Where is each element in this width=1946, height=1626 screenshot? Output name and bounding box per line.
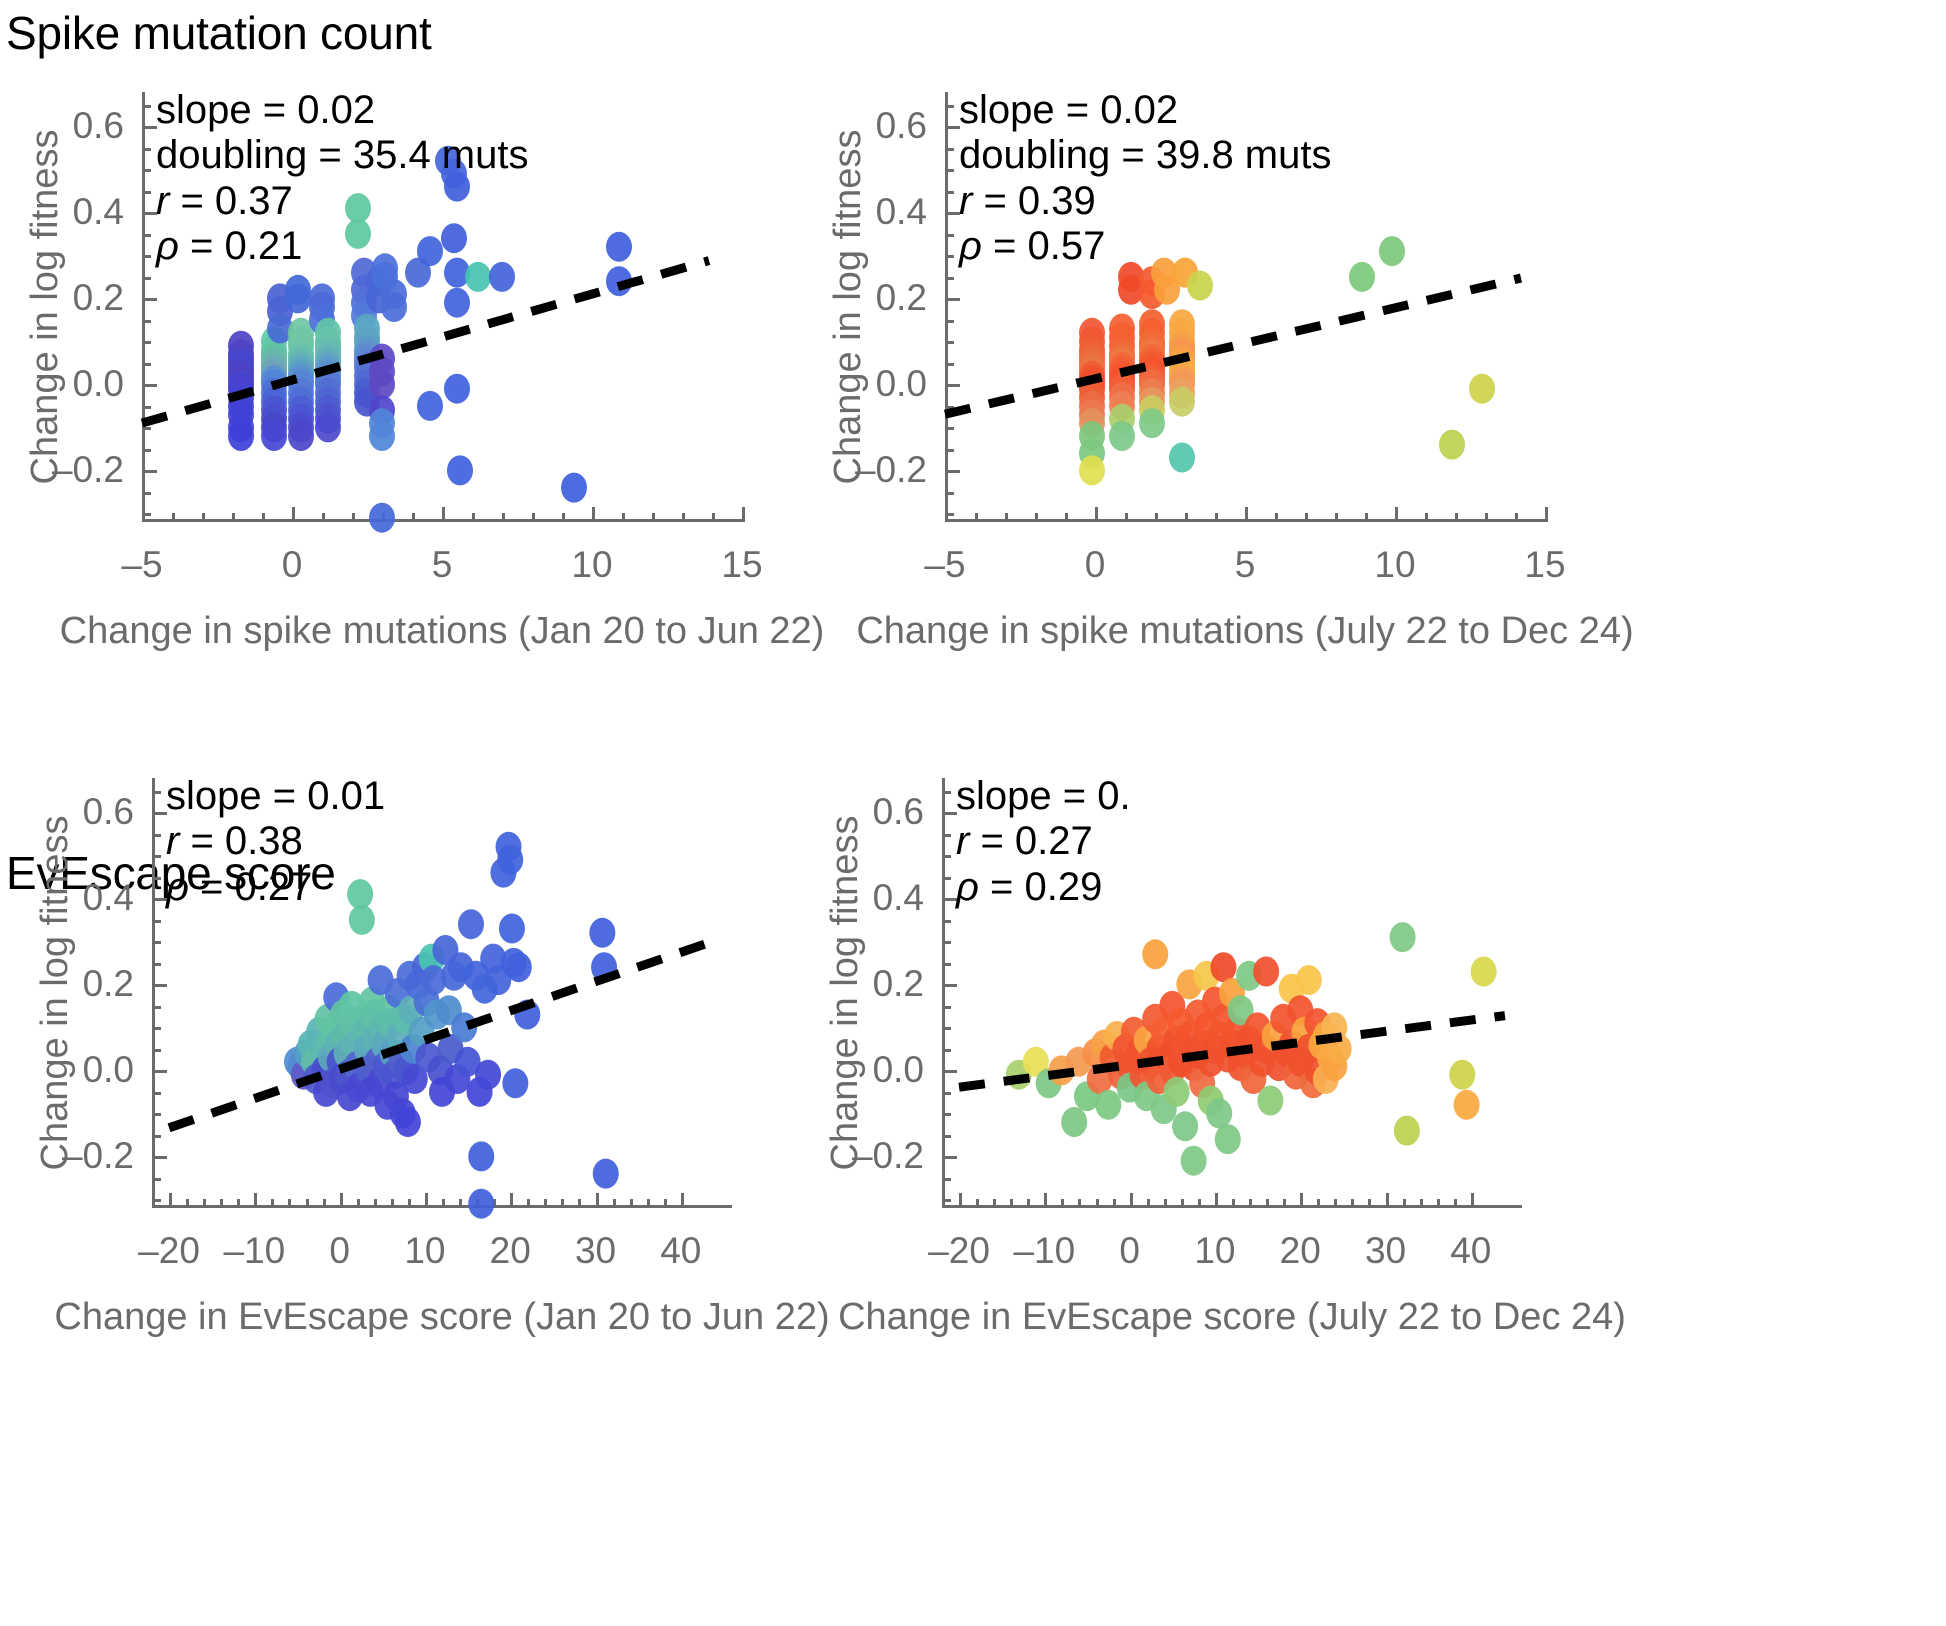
stats-value: = 0.21 [179,224,302,268]
y-tick-label: 0.2 [876,277,927,319]
section-title-spike-mutation-count: Spike mutation count [6,6,432,60]
x-tick-label: 20 [490,1230,531,1272]
data-point [369,421,395,451]
stats-symbol: r [959,179,972,223]
stats-line: doubling = 35.4 muts [156,133,528,178]
y-tick-label: 0.0 [873,1049,924,1091]
x-tick-label: 10 [404,1230,445,1272]
stats-symbol: ρ [959,224,982,268]
x-tick-label: 10 [1374,544,1415,586]
x-tick-label: 20 [1280,1230,1321,1272]
stats-value: doubling = 35.4 muts [156,133,528,177]
stats-line: ρ = 0.29 [956,865,1131,910]
data-point [468,1189,494,1219]
y-tick-label: 0.0 [876,363,927,405]
data-point [1349,262,1375,292]
stats-annotation: slope = 0.02doubling = 39.8 mutsr = 0.39… [959,88,1331,270]
x-tick-label: –5 [924,544,965,586]
data-point [381,292,407,322]
data-point [1257,1086,1283,1116]
data-point [1187,271,1213,301]
y-tick-label: 0.2 [873,963,924,1005]
y-tick-label: 0.6 [73,105,124,147]
data-point [369,369,395,399]
stats-line: r = 0.38 [166,819,385,864]
data-point [468,1141,494,1171]
x-tick-label: 5 [1235,544,1256,586]
data-point [395,1107,421,1137]
data-point [1164,1077,1190,1107]
stats-symbol: r [956,819,969,863]
y-axis-title: Change in log fitness [24,130,67,485]
data-point [444,288,470,318]
data-point [1210,952,1236,982]
x-tick-label: 30 [575,1230,616,1272]
data-point [315,412,341,442]
stats-value: = 0.29 [979,865,1102,909]
stats-line: ρ = 0.21 [156,224,528,269]
stats-value: slope = 0. [956,774,1131,818]
data-point [1206,1098,1232,1128]
data-point [475,1060,501,1090]
stats-value: doubling = 39.8 muts [959,133,1331,177]
y-tick-label: 0.6 [876,105,927,147]
x-tick-major [1545,507,1548,522]
data-point [1169,443,1195,473]
data-point [1253,957,1279,987]
stats-value: slope = 0.02 [959,88,1178,132]
x-tick-label: 15 [721,544,762,586]
stats-line: r = 0.27 [956,819,1131,864]
stats-symbol: ρ [956,865,979,909]
x-axis-title: Change in spike mutations (Jan 20 to Jun… [60,610,825,653]
stats-value: = 0.27 [189,865,312,909]
y-tick-label: 0.4 [83,877,134,919]
y-axis-title: Change in log fitness [824,816,867,1171]
stats-line: slope = 0.02 [156,88,528,133]
stats-line: slope = 0.02 [959,88,1331,133]
data-point [1439,430,1465,460]
data-point [589,918,615,948]
stats-symbol: r [156,179,169,223]
y-tick-label: 0.6 [83,791,134,833]
data-point [458,909,484,939]
x-tick-major [742,507,745,522]
scatter-points [1079,236,1495,485]
x-tick-label: 0 [1085,544,1106,586]
data-point [1394,1116,1420,1146]
stats-line: ρ = 0.27 [166,865,385,910]
data-point [1469,374,1495,404]
data-point [561,473,587,503]
stats-value: slope = 0.01 [166,774,385,818]
x-tick-label: –20 [138,1230,200,1272]
data-point [502,1068,528,1098]
data-point [1139,408,1165,438]
data-point [606,232,632,262]
data-point [497,845,523,875]
x-tick-label: 30 [1365,1230,1406,1272]
stats-line: slope = 0.01 [166,774,385,819]
data-point [1181,1146,1207,1176]
y-tick-label: 0.0 [73,363,124,405]
data-point [261,421,287,451]
data-point [1109,421,1135,451]
stats-symbol: ρ [166,865,189,909]
panel-evescape-early: –0.20.00.20.40.6–20–10010203040slope = 0… [152,778,732,1208]
x-tick-label: 0 [329,1230,350,1272]
data-point [1079,455,1105,485]
x-tick-label: 10 [571,544,612,586]
x-axis-title: Change in EvEscape score (July 22 to Dec… [838,1296,1626,1339]
stats-value: = 0.27 [969,819,1092,863]
stats-annotation: slope = 0.02doubling = 35.4 mutsr = 0.37… [156,88,528,270]
x-tick-label: 40 [1450,1230,1491,1272]
data-point [499,914,525,944]
data-point [1095,1090,1121,1120]
data-point [506,952,532,982]
stats-line: r = 0.39 [959,179,1331,224]
y-tick-label: 0.2 [83,963,134,1005]
y-tick-label: 0.6 [873,791,924,833]
data-point [1169,387,1195,417]
stats-value: slope = 0.02 [156,88,375,132]
data-point [1215,1124,1241,1154]
data-point [1449,1060,1475,1090]
x-axis-title: Change in spike mutations (July 22 to De… [856,610,1633,653]
stats-value: = 0.38 [179,819,302,863]
stats-line: ρ = 0.57 [959,224,1331,269]
stats-line: doubling = 39.8 muts [959,133,1331,178]
data-point [285,283,311,313]
y-tick-label: 0.2 [73,277,124,319]
stats-line: r = 0.37 [156,179,528,224]
panel-spike-early: –0.20.00.20.40.6–5051015slope = 0.02doub… [142,92,742,522]
stats-symbol: r [166,819,179,863]
figure-root: Spike mutation count EvEscape score –0.2… [0,0,1946,1626]
x-tick-label: –20 [928,1230,990,1272]
x-tick-label: 0 [1119,1230,1140,1272]
y-tick-label: 0.4 [73,191,124,233]
stats-line: slope = 0. [956,774,1131,819]
panel-evescape-late: –0.20.00.20.40.6–20–10010203040slope = 0… [942,778,1522,1208]
panel-spike-late: –0.20.00.20.40.6–5051015slope = 0.02doub… [945,92,1545,522]
data-point [1061,1107,1087,1137]
x-tick-label: –5 [121,544,162,586]
data-point [1296,965,1322,995]
data-point [369,503,395,533]
data-point [1172,1111,1198,1141]
y-axis-title: Change in log fitness [34,816,77,1171]
data-point [228,421,254,451]
stats-value: = 0.39 [972,179,1095,223]
x-tick-label: 40 [660,1230,701,1272]
data-point [444,374,470,404]
x-tick-label: 0 [282,544,303,586]
x-axis-title: Change in EvEscape score (Jan 20 to Jun … [54,1296,829,1339]
stats-symbol: ρ [156,224,179,268]
stats-value: = 0.57 [982,224,1105,268]
stats-value: = 0.37 [169,179,292,223]
data-point [1379,236,1405,266]
y-axis-title: Change in log fitness [827,130,870,485]
data-point [417,391,443,421]
x-tick-label: 15 [1524,544,1565,586]
y-tick-label: 0.4 [873,877,924,919]
x-tick-label: –10 [1013,1230,1075,1272]
data-point [447,455,473,485]
data-point [1454,1090,1480,1120]
stats-annotation: slope = 0.r = 0.27ρ = 0.29 [956,774,1131,910]
stats-annotation: slope = 0.01r = 0.38ρ = 0.27 [166,774,385,910]
x-tick-label: 10 [1194,1230,1235,1272]
data-point [1142,939,1168,969]
data-point [1471,957,1497,987]
x-tick-label: 5 [432,544,453,586]
data-point [288,421,314,451]
x-tick-label: –10 [223,1230,285,1272]
data-point [1390,922,1416,952]
y-tick-label: 0.4 [876,191,927,233]
y-tick-label: 0.0 [83,1049,134,1091]
trend-line [945,278,1521,414]
data-point [593,1159,619,1189]
